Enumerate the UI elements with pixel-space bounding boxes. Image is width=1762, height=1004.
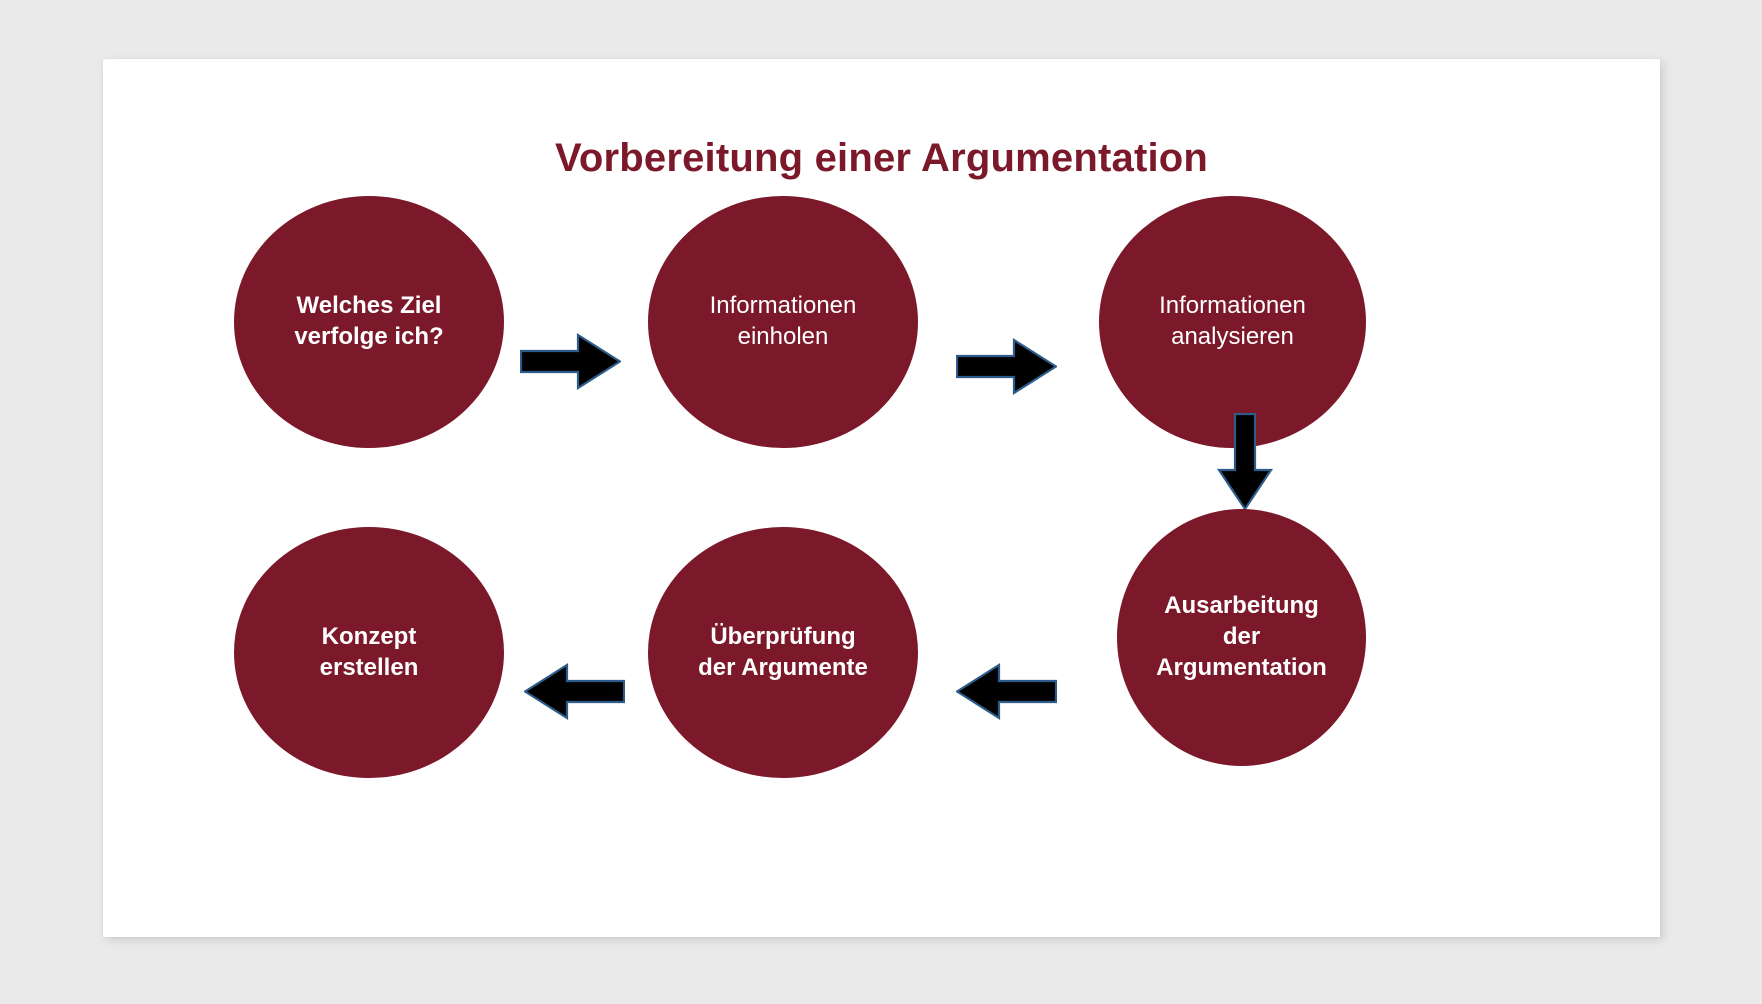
page-title: Vorbereitung einer Argumentation: [103, 136, 1660, 180]
arrow-right-ziel-to-einholen: [520, 332, 621, 391]
node-ausarbeitung-der-argumentation[interactable]: Ausarbeitung der Argumentation: [1117, 509, 1366, 766]
node-ueberpruefung-der-argumente[interactable]: Überprüfung der Argumente: [648, 527, 918, 778]
node-label: Ausarbeitung der Argumentation: [1146, 591, 1337, 683]
arrow-right-icon: [520, 332, 621, 391]
node-label: Konzept erstellen: [310, 622, 429, 683]
node-welches-ziel[interactable]: Welches Ziel verfolge ich?: [234, 196, 504, 448]
arrow-right-einholen-to-analysieren: [956, 337, 1057, 396]
arrow-left-icon: [956, 662, 1057, 721]
arrow-down-analysieren-to-ausarbeitung: [1214, 413, 1276, 511]
node-label: Informationen analysieren: [1149, 291, 1316, 352]
node-informationen-analysieren[interactable]: Informationen analysieren: [1099, 196, 1366, 448]
arrow-left-ueberpruefung-to-konzept: [524, 662, 625, 721]
arrow-left-ausarbeitung-to-ueberpruefung: [956, 662, 1057, 721]
slide-stage: Vorbereitung einer Argumentation Welches…: [0, 0, 1762, 1004]
node-konzept-erstellen[interactable]: Konzept erstellen: [234, 527, 504, 778]
node-informationen-einholen[interactable]: Informationen einholen: [648, 196, 918, 448]
node-label: Informationen einholen: [700, 291, 867, 352]
node-label: Überprüfung der Argumente: [688, 622, 878, 683]
arrow-right-icon: [956, 337, 1057, 396]
arrow-down-icon: [1214, 413, 1276, 511]
slide-card: Vorbereitung einer Argumentation Welches…: [103, 59, 1660, 937]
arrow-left-icon: [524, 662, 625, 721]
node-label: Welches Ziel verfolge ich?: [284, 291, 453, 352]
